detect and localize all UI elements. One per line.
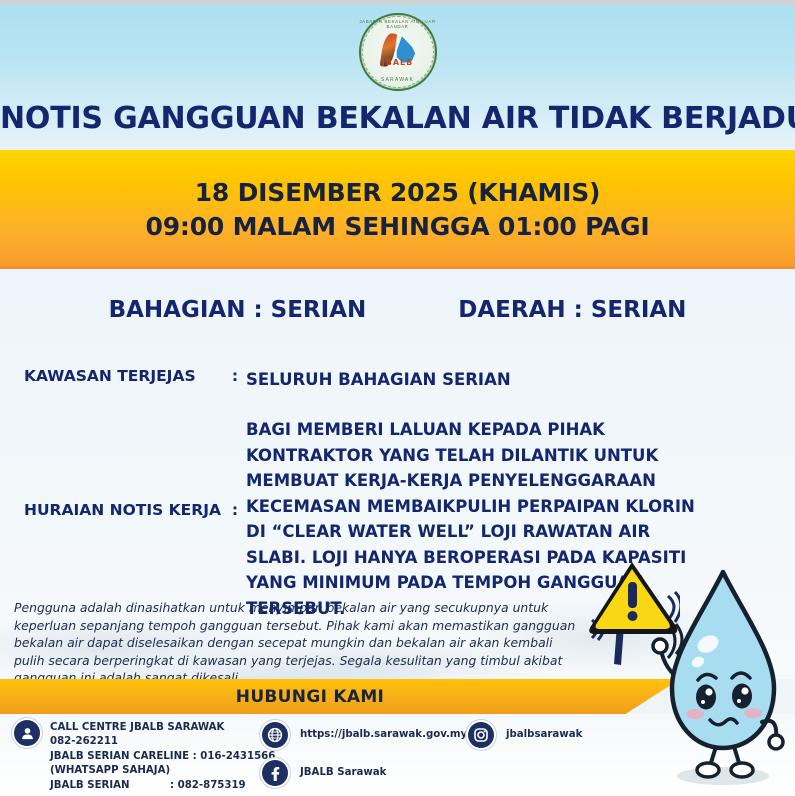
bahagian-label: BAHAGIAN : SERIAN <box>109 297 367 323</box>
huraian-label: HURAIAN NOTIS KERJA <box>24 417 224 519</box>
contact-band-title: HUBUNGI KAMI <box>0 687 620 707</box>
person-icon <box>14 720 40 746</box>
field-kawasan-terjejas: KAWASAN TERJEJAS : SELURUH BAHAGIAN SERI… <box>24 367 511 393</box>
kawasan-value: SELURUH BAHAGIAN SERIAN <box>246 367 511 393</box>
whatsapp-note: (WHATSAPP SAHAJA) <box>50 764 275 778</box>
region-row: BAHAGIAN : SERIAN DAERAH : SERIAN <box>0 297 795 323</box>
call-centre-phone: 082-262211 <box>50 735 275 749</box>
poster-header: JABATAN BEKALAN AIR LUAR BANDAR JBALB SA… <box>0 5 795 150</box>
jbalb-serian-phone: : 082-875319 <box>170 779 246 793</box>
warning-triangle-icon <box>588 560 680 680</box>
date-time-band: 18 DISEMBER 2025 (KHAMIS) 09:00 MALAM SE… <box>0 150 795 269</box>
instagram-handle[interactable]: jbalbsarawak <box>494 722 582 742</box>
globe-icon[interactable] <box>262 722 288 748</box>
website-url[interactable]: https://jbalb.sarawak.gov.my/ <box>288 722 471 742</box>
page-title: NOTIS GANGGUAN BEKALAN AIR TIDAK BERJADU… <box>0 101 795 136</box>
facebook-handle[interactable]: JBALB Sarawak <box>288 760 386 780</box>
kawasan-label: KAWASAN TERJEJAS <box>24 367 224 385</box>
footer-web-social: https://jbalb.sarawak.gov.my/ JBALB Sara… <box>262 722 471 796</box>
logo-wordmark: JBALB <box>359 58 437 67</box>
daerah-label: DAERAH : SERIAN <box>458 297 686 323</box>
disclaimer-text: Pengguna adalah dinasihatkan untuk menyi… <box>14 599 580 679</box>
logo-top-arc-text: JABATAN BEKALAN AIR LUAR BANDAR <box>359 19 437 29</box>
jbalb-serian-label: JBALB SERIAN <box>50 779 170 793</box>
notice-poster: JABATAN BEKALAN AIR LUAR BANDAR JBALB SA… <box>0 0 795 796</box>
logo-bottom-arc-text: SARAWAK <box>359 77 437 83</box>
facebook-icon[interactable] <box>262 760 288 786</box>
jbalb-logo: JABATAN BEKALAN AIR LUAR BANDAR JBALB SA… <box>359 13 437 91</box>
contact-band: HUBUNGI KAMI <box>0 679 680 714</box>
kawasan-colon: : <box>224 367 246 385</box>
call-centre-name: CALL CENTRE JBALB SARAWAK <box>50 721 275 735</box>
footer-instagram: jbalbsarawak <box>468 722 582 748</box>
footer-call-centre: CALL CENTRE JBALB SARAWAK 082-262211 JBA… <box>14 720 275 793</box>
notice-date: 18 DISEMBER 2025 (KHAMIS) <box>195 176 601 210</box>
instagram-icon[interactable] <box>468 722 494 748</box>
careline: JBALB SERIAN CARELINE : 016-2431566 <box>50 750 275 764</box>
huraian-colon: : <box>224 417 246 519</box>
notice-time: 09:00 MALAM SEHINGGA 01:00 PAGI <box>146 210 650 244</box>
